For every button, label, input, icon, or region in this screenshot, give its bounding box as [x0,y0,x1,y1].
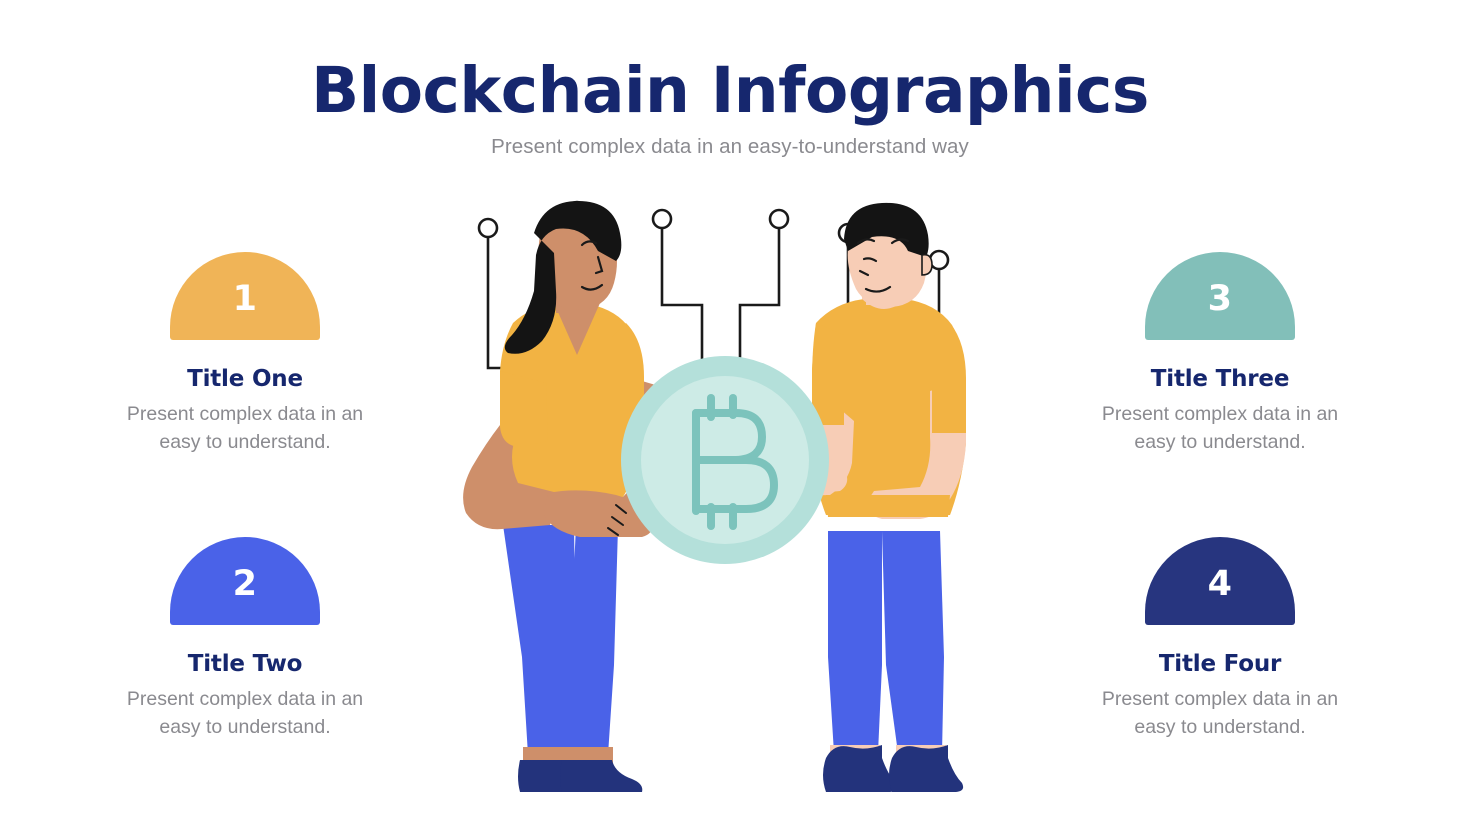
info-item-3-description: Present complex data in an easy to under… [1086,401,1354,456]
page-subtitle: Present complex data in an easy-to-under… [0,135,1460,159]
info-item-3[interactable]: 3 Title Three Present complex data in an… [1070,252,1370,456]
info-item-3-title: Title Three [1070,366,1370,392]
number-dome-3: 3 [1145,252,1295,340]
blockchain-illustration [430,195,1030,805]
man-leg-right [882,531,944,753]
man-shirt-hem [826,495,950,517]
info-item-4-description: Present complex data in an easy to under… [1086,686,1354,741]
dome-wrap-2: 2 [95,537,395,625]
connector-line-4 [740,228,779,359]
slide-canvas: Blockchain Infographics Present complex … [0,0,1460,821]
info-item-4[interactable]: 4 Title Four Present complex data in an … [1070,537,1370,741]
header: Blockchain Infographics Present complex … [0,58,1460,159]
info-item-1-description: Present complex data in an easy to under… [111,401,379,456]
dome-wrap-4: 4 [1070,537,1370,625]
info-item-4-title: Title Four [1070,651,1370,677]
man-sleeve-right [932,323,966,433]
info-item-1[interactable]: 1 Title One Present complex data in an e… [95,252,395,456]
info-item-1-title: Title One [95,366,395,392]
connector-line-3 [662,228,702,359]
man-sleeve-left [812,323,844,425]
woman-shoe-front [560,760,642,792]
man-leg-left [828,531,882,753]
man-ear [922,255,932,275]
dome-number-2: 2 [233,567,258,602]
dome-number-4: 4 [1208,567,1233,602]
man-shoe-left [823,745,897,792]
dome-number-3: 3 [1208,282,1233,317]
info-item-2[interactable]: 2 Title Two Present complex data in an e… [95,537,395,741]
connector-node-1 [479,219,497,237]
connector-node-3 [653,210,671,228]
page-title: Blockchain Infographics [0,58,1460,124]
woman-leg-back [503,525,576,755]
dome-wrap-1: 1 [95,252,395,340]
illustration-svg [430,195,1030,805]
woman-sleeve-left [500,371,548,447]
number-dome-4: 4 [1145,537,1295,625]
dome-wrap-3: 3 [1070,252,1370,340]
dome-number-1: 1 [233,282,258,317]
info-item-2-description: Present complex data in an easy to under… [111,686,379,741]
number-dome-1: 1 [170,252,320,340]
number-dome-2: 2 [170,537,320,625]
connector-node-4 [770,210,788,228]
man-shoe-right [889,745,963,792]
info-item-2-title: Title Two [95,651,395,677]
bitcoin-coin [621,356,829,564]
